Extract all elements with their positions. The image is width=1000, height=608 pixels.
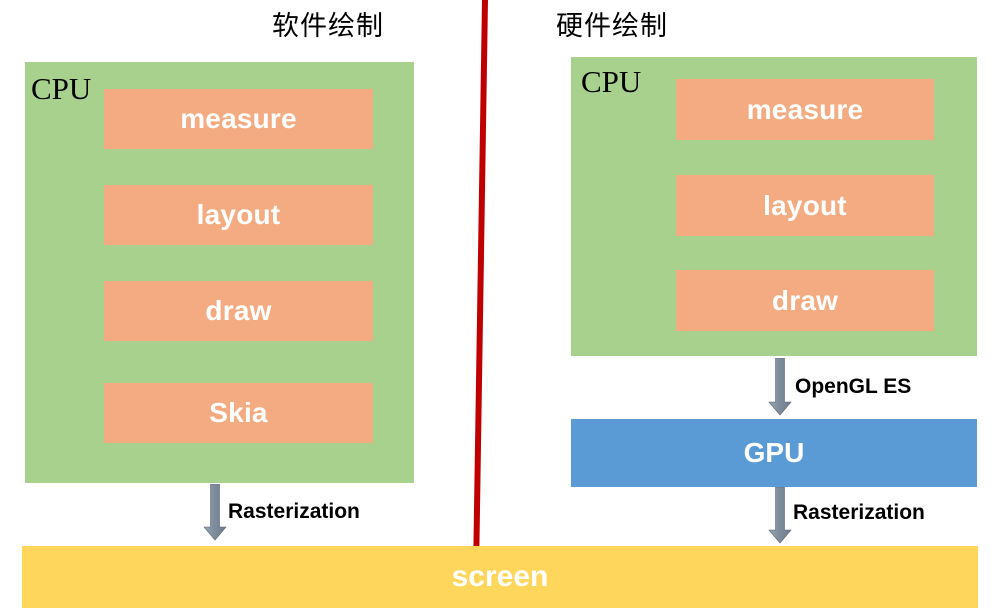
diagram-canvas: 软件绘制 硬件绘制 CPU measure layout draw Skia R…	[0, 0, 1000, 608]
screen-bar[interactable]: screen	[22, 546, 978, 608]
column-divider	[473, 0, 488, 546]
left-stage-draw[interactable]: draw	[104, 281, 373, 341]
opengl-es-arrow-icon	[765, 358, 795, 416]
gpu-box[interactable]: GPU	[571, 419, 977, 487]
left-column-title: 软件绘制	[272, 4, 384, 43]
left-stage-skia[interactable]: Skia	[104, 383, 373, 443]
right-stage-layout[interactable]: layout	[676, 175, 934, 236]
right-column-title: 硬件绘制	[556, 4, 668, 43]
right-rasterization-arrow-icon	[765, 487, 795, 545]
left-stage-measure[interactable]: measure	[104, 89, 373, 149]
opengl-es-label: OpenGL ES	[795, 375, 911, 399]
right-rasterization-label: Rasterization	[793, 501, 925, 525]
left-stage-layout[interactable]: layout	[104, 185, 373, 245]
left-cpu-label: CPU	[31, 73, 91, 104]
left-rasterization-arrow-icon	[200, 484, 230, 542]
right-stage-draw[interactable]: draw	[676, 270, 934, 331]
right-cpu-label: CPU	[581, 66, 641, 97]
right-stage-measure[interactable]: measure	[676, 79, 934, 140]
left-rasterization-label: Rasterization	[228, 500, 360, 524]
